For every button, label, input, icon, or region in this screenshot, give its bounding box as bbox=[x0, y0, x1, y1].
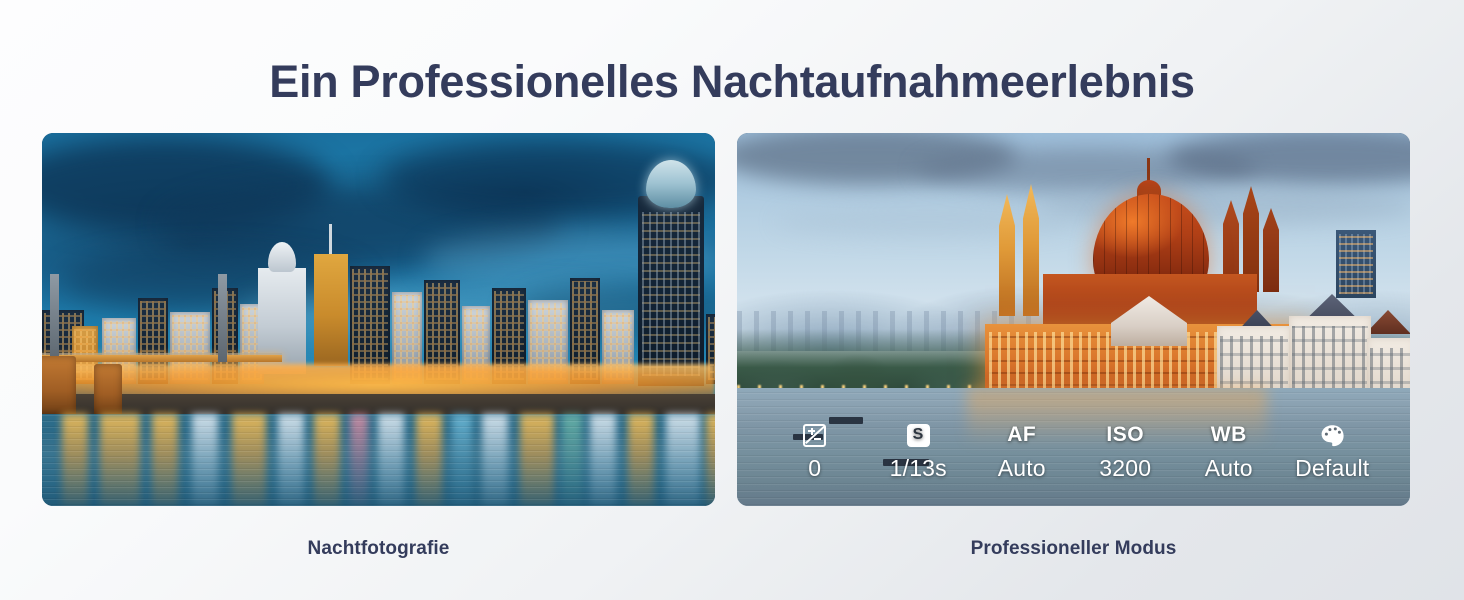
hud-control-shutter[interactable]: S 1/13s bbox=[867, 422, 971, 482]
golden-spire-tower bbox=[314, 254, 348, 366]
feature-card-row: Nachtfotografie bbox=[42, 133, 1422, 560]
shutter-speed-icon: S bbox=[907, 422, 930, 448]
budapest-parliament-photo: 0 S 1/13s AF Auto ISO 3200 WB bbox=[737, 133, 1410, 506]
suspension-bridge bbox=[42, 264, 282, 414]
exposure-compensation-icon bbox=[803, 422, 826, 448]
card-caption-night-photography: Nachtfotografie bbox=[308, 538, 450, 560]
feature-card-pro-mode: 0 S 1/13s AF Auto ISO 3200 WB bbox=[737, 133, 1410, 560]
modern-office-tower bbox=[1336, 230, 1376, 298]
page-title: Ein Professionelles Nachtaufnahmeerlebni… bbox=[0, 56, 1464, 108]
hud-control-exposure[interactable]: 0 bbox=[763, 422, 867, 482]
autofocus-icon: AF bbox=[1007, 422, 1036, 448]
hud-value-shutter: 1/13s bbox=[890, 455, 947, 482]
pro-mode-hud: 0 S 1/13s AF Auto ISO 3200 WB bbox=[737, 414, 1410, 506]
hud-control-color-style[interactable]: Default bbox=[1281, 422, 1385, 482]
hud-value-exposure: 0 bbox=[808, 455, 821, 482]
shutter-speed-badge-label: S bbox=[907, 424, 930, 447]
water-ripples bbox=[42, 414, 715, 506]
iso-icon: ISO bbox=[1106, 422, 1144, 448]
tiara-crown-tower bbox=[638, 196, 704, 386]
white-balance-icon: WB bbox=[1211, 422, 1247, 448]
color-palette-icon bbox=[1320, 422, 1345, 448]
feature-card-night-photography: Nachtfotografie bbox=[42, 133, 715, 560]
hud-value-autofocus: Auto bbox=[998, 455, 1046, 482]
card-caption-pro-mode: Professioneller Modus bbox=[971, 538, 1177, 560]
hud-control-iso[interactable]: ISO 3200 bbox=[1074, 422, 1178, 482]
hud-control-white-balance[interactable]: WB Auto bbox=[1177, 422, 1281, 482]
hud-value-iso: 3200 bbox=[1099, 455, 1151, 482]
hud-value-color-style: Default bbox=[1295, 455, 1369, 482]
night-cityscape-photo bbox=[42, 133, 715, 506]
hud-value-white-balance: Auto bbox=[1205, 455, 1253, 482]
hud-control-autofocus[interactable]: AF Auto bbox=[970, 422, 1074, 482]
